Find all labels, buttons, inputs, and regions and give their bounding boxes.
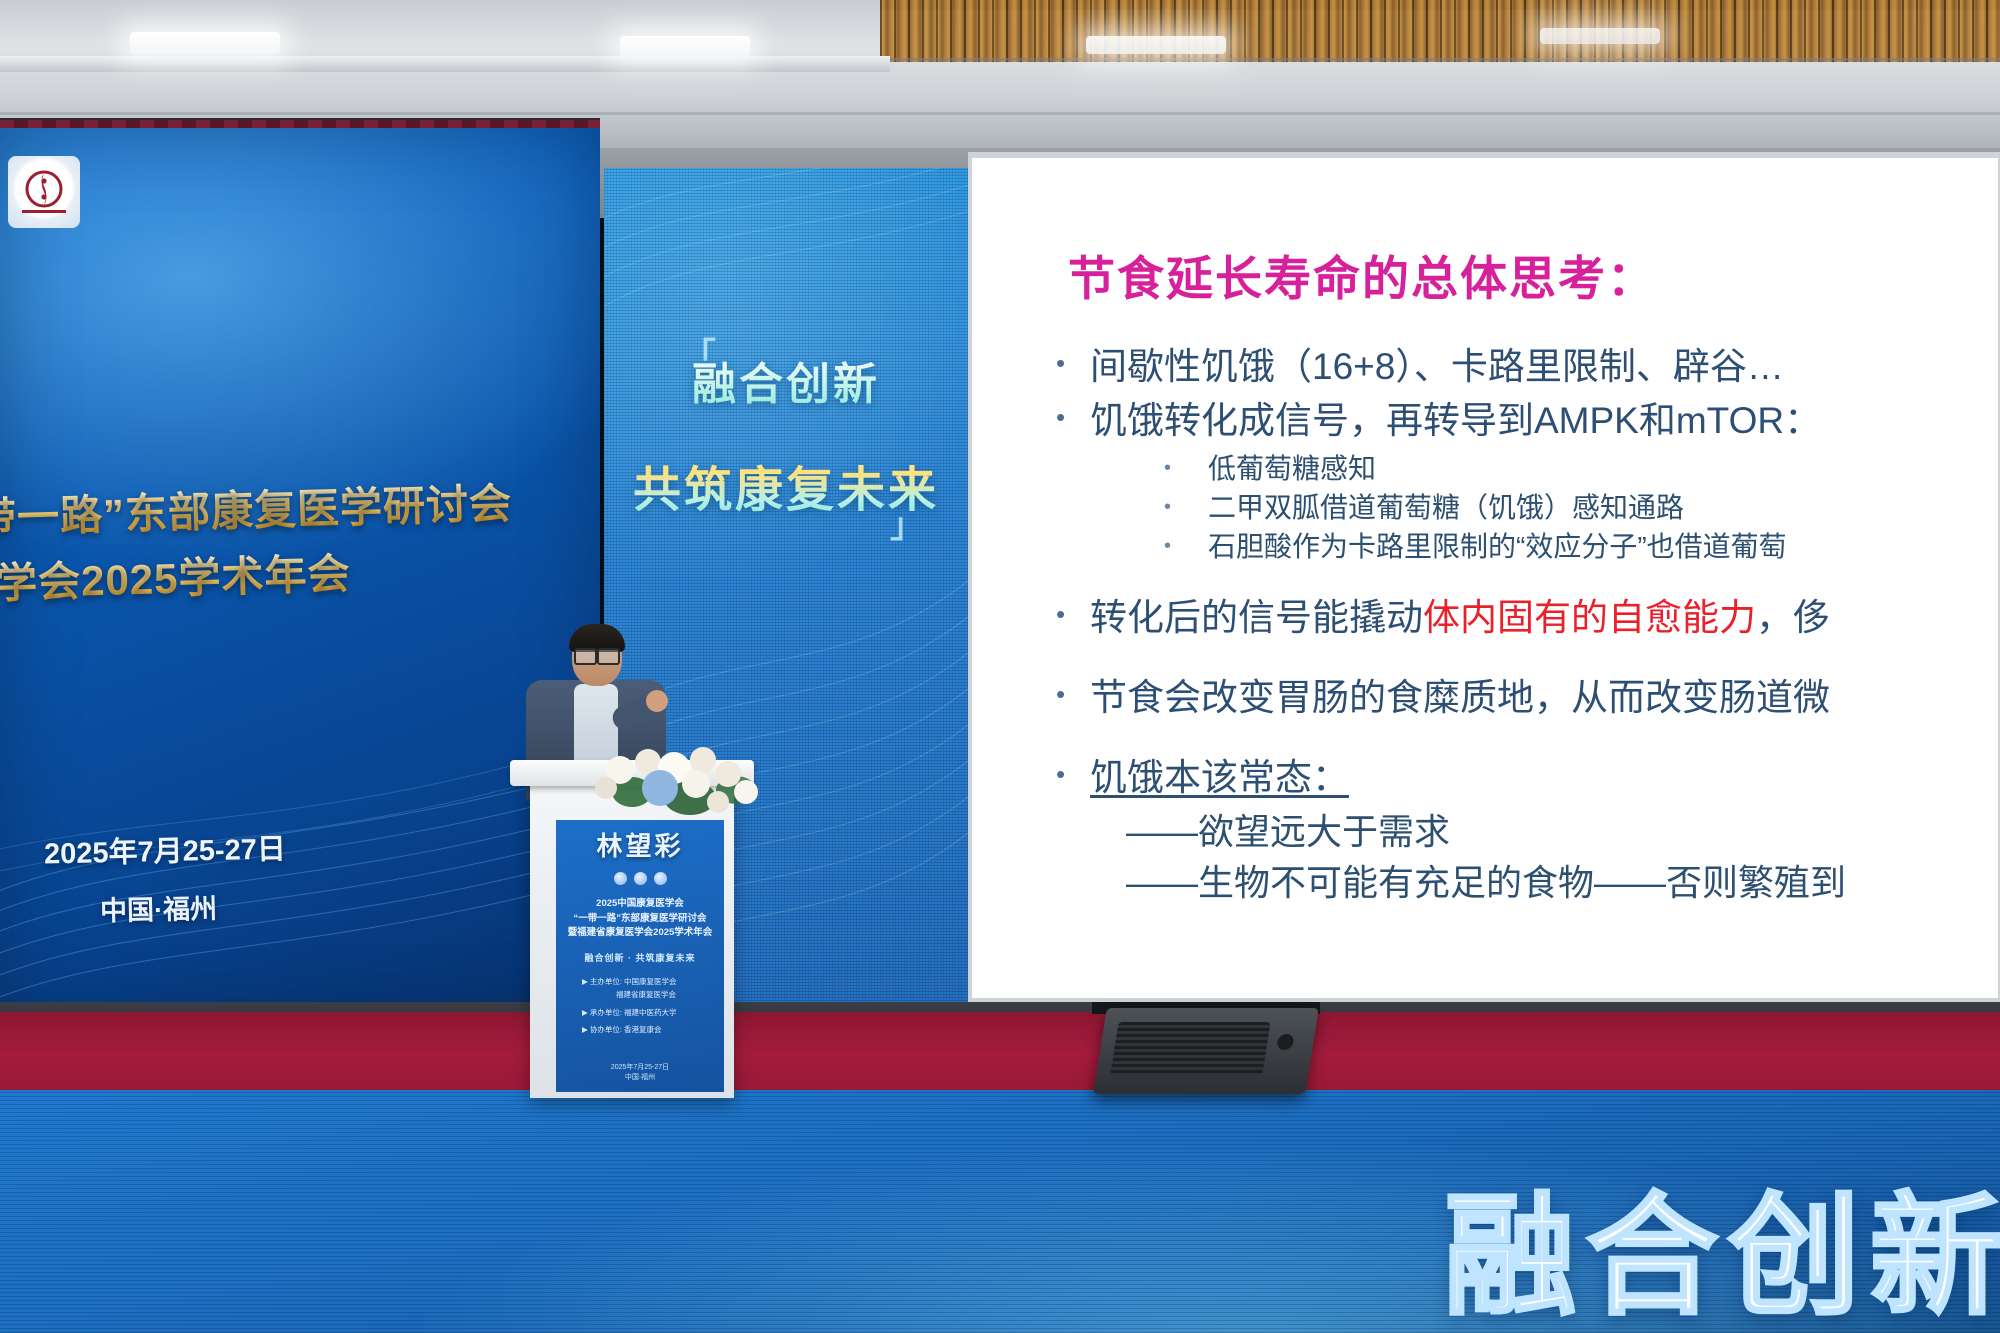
bullet-marker: • xyxy=(1164,490,1208,524)
organizer-value: 福建中医药大学 xyxy=(624,1008,677,1017)
bullet-text: 节食会改变胃肠的食糜质地，从而改变肠道微 xyxy=(1090,674,1830,722)
slide-sub-bullet: • 低葡萄糖感知 xyxy=(1164,451,1998,488)
bullet-text: 饥饿本该常态： xyxy=(1090,754,1349,802)
stage-monitor-wedge xyxy=(1093,1008,1319,1094)
backdrop-headline-2-text: 建省康复医学会2025学术年会 xyxy=(0,550,351,613)
bullet-text-pre: 转化后的信号能撬动 xyxy=(1090,597,1423,638)
slide-spacer xyxy=(1030,728,1998,754)
organizer-row: 福建省康复医学会 xyxy=(582,989,724,1002)
bullet-text: 低葡萄糖感知 xyxy=(1208,451,1376,488)
glasses-icon xyxy=(574,648,620,661)
organizer-label: ▶ 协办单位: xyxy=(582,1025,622,1034)
ceiling-wood-grille xyxy=(880,0,2000,62)
podium-organizer-rows: ▶ 主办单位: 中国康复医学会 福建省康复医学会 ▶ 承办单位: 福建中医药大学… xyxy=(556,976,724,1037)
backdrop-headline-1: 医学会“一带一路”东部康复医学研讨会 xyxy=(0,470,513,551)
podium-city: 中国·福州 xyxy=(556,1072,724,1082)
presenter-hand xyxy=(646,690,668,712)
backdrop-date: 2025年7月25-27日 xyxy=(44,825,287,872)
ceiling-light-bar-3 xyxy=(1086,36,1226,54)
bullet-text-highlight: 体内固有的自愈能力 xyxy=(1423,597,1756,638)
podium-title-1: 2025中国康复医学会 xyxy=(556,897,724,912)
bullet-text: 间歇性饥饿（16+8）、卡路里限制、辟谷… xyxy=(1090,343,1784,391)
bullet-marker: • xyxy=(1056,397,1090,437)
slide-sub-bullet: • 石胆酸作为卡路里限制的“效应分子”也借道葡萄 xyxy=(1164,529,1998,566)
bullet-text: 二甲双胍借道葡萄糖（饥饿）感知通路 xyxy=(1208,490,1684,527)
organizer-value: 福建省康复医学会 xyxy=(616,990,676,999)
bullet-text: 石胆酸作为卡路里限制的“效应分子”也借道葡萄 xyxy=(1208,529,1787,566)
podium-date: 2025年7月25-27日 xyxy=(556,1062,724,1072)
slide-bullet: • 节食会改变胃肠的食糜质地，从而改变肠道微 xyxy=(1056,674,1998,722)
podium-title-3: 暨福建省康复医学会2025学术年会 xyxy=(556,926,724,941)
podium-title-2: “一带一路”东部康复医学研讨会 xyxy=(556,912,724,927)
ceiling-light-bar-1 xyxy=(130,32,280,54)
bullet-marker: • xyxy=(1164,451,1208,485)
flower-arrangement xyxy=(540,718,800,838)
backdrop-headline-1-text: 医学会“一带一路”东部康复医学研讨会 xyxy=(0,480,513,547)
ceiling-seam-2 xyxy=(0,112,2000,115)
bullet-marker: • xyxy=(1164,529,1208,563)
monitor-tweeter-icon xyxy=(1276,1034,1295,1050)
slide-bullet: • 饥饿本该常态： xyxy=(1056,754,1998,802)
presentation-slide: 节食延长寿命的总体思考： • 间歇性饥饿（16+8）、卡路里限制、辟谷… • 饥… xyxy=(972,158,1998,998)
backdrop-city: 中国·福州 xyxy=(100,887,218,928)
organizer-row: ▶ 协办单位: 香港复康会 xyxy=(582,1024,724,1037)
slide-bullet: • 间歇性饥饿（16+8）、卡路里限制、辟谷… xyxy=(1056,343,1998,391)
stage-backdrop-banner: 医学会“一带一路”东部康复医学研讨会 建省康复医学会2025学术年会 2025年… xyxy=(0,128,600,1028)
podium-slogan: 融合创新 · 共筑康复未来 xyxy=(556,951,724,964)
badge-icon-2 xyxy=(634,872,647,885)
organizer-row: ▶ 主办单位: 中国康复医学会 xyxy=(582,976,724,989)
organizer-value: 香港复康会 xyxy=(624,1025,662,1034)
bullet-marker: • xyxy=(1056,674,1090,714)
podium-front-panel: 林望彩 2025中国康复医学会 “一带一路”东部康复医学研讨会 暨福建省康复医学… xyxy=(556,820,724,1092)
bullet-text-group: 转化后的信号能撬动体内固有的自愈能力，侈 xyxy=(1090,594,1830,642)
led-panel-title-top: 融合创新 xyxy=(604,348,968,412)
bullet-marker: • xyxy=(1056,343,1090,383)
backdrop-headline-2: 建省康复医学会2025学术年会 xyxy=(0,540,351,617)
floor-led-text: 融合创新 xyxy=(1444,1150,2000,1333)
slide-bullet: • 饥饿转化成信号，再转导到AMPK和mTOR： xyxy=(1056,397,1998,445)
ceiling-light-bar-4 xyxy=(1540,28,1660,44)
slide-dash-line: ——欲望远大于需求 xyxy=(1126,808,1998,856)
bullet-marker: • xyxy=(1056,754,1090,794)
bullet-marker: • xyxy=(1056,594,1090,634)
slide-spacer xyxy=(1030,568,1998,594)
slide-spacer xyxy=(1030,648,1998,674)
slide-dash-line: ——生物不可能有充足的食物——否则繁殖到 xyxy=(1126,859,1998,907)
quote-close-icon: 」 xyxy=(890,498,924,547)
organizer-label: ▶ 主办单位: xyxy=(582,977,622,986)
slide-title: 节食延长寿命的总体思考： xyxy=(1068,240,1998,309)
conference-photo-scene: 医学会“一带一路”东部康复医学研讨会 建省康复医学会2025学术年会 2025年… xyxy=(0,0,2000,1333)
badge-icon-3 xyxy=(654,872,667,885)
podium-badge-row xyxy=(556,872,724,885)
monitor-grille xyxy=(1110,1022,1271,1076)
slide-bullet: • 转化后的信号能撬动体内固有的自愈能力，侈 xyxy=(1056,594,1998,642)
ceiling-light-bar-2 xyxy=(620,36,750,56)
ceiling-beam xyxy=(0,56,890,72)
bullet-text: 饥饿转化成信号，再转导到AMPK和mTOR： xyxy=(1090,397,1821,445)
projection-screen: 节食延长寿命的总体思考： • 间歇性饥饿（16+8）、卡路里限制、辟谷… • 饥… xyxy=(972,158,1998,998)
organizer-label: ▶ 承办单位: xyxy=(582,1008,622,1017)
podium-title-block: 2025中国康复医学会 “一带一路”东部康复医学研讨会 暨福建省康复医学会202… xyxy=(556,897,724,941)
organizer-row: ▶ 承办单位: 福建中医药大学 xyxy=(582,1007,724,1020)
slide-sub-bullet: • 二甲双胍借道葡萄糖（饥饿）感知通路 xyxy=(1164,490,1998,527)
bullet-text-post: ，侈 xyxy=(1756,597,1830,638)
badge-icon-1 xyxy=(614,872,627,885)
podium-date-block: 2025年7月25-27日 中国·福州 xyxy=(556,1062,724,1082)
organizer-value: 中国康复医学会 xyxy=(624,977,677,986)
society-emblem-icon xyxy=(8,156,80,228)
